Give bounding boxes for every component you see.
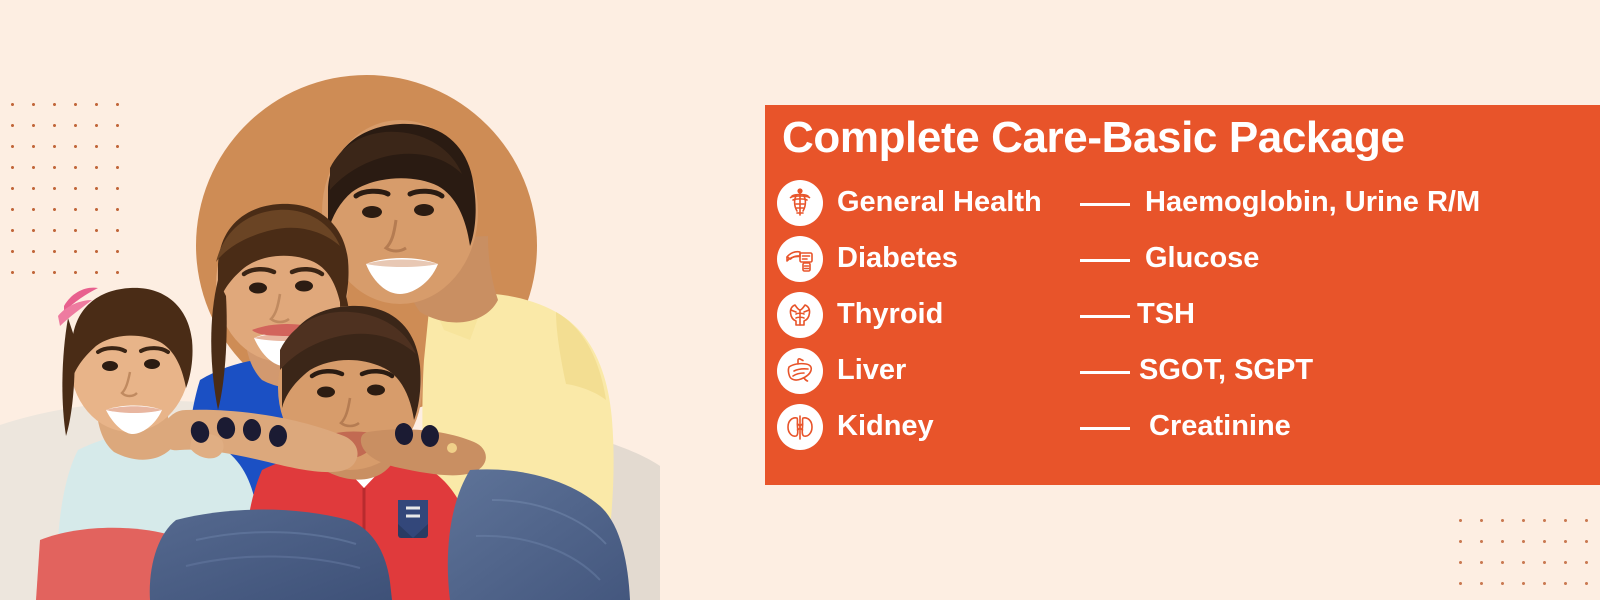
family-photo [0,0,660,600]
list-item[interactable]: Diabetes Glucose [777,233,1597,289]
package-title: Complete Care-Basic Package [782,113,1405,163]
family-photo-illustration [0,0,660,600]
list-item[interactable]: Thyroid TSH [777,289,1597,345]
row-separator [1080,259,1130,262]
list-item[interactable]: Liver SGOT, SGPT [777,345,1597,401]
decorative-dot-grid-right [1448,508,1600,600]
glucose-meter-hand-icon [777,236,823,282]
row-separator [1080,315,1130,318]
category-label: Diabetes [837,242,958,275]
test-name: Haemoglobin, Urine R/M [1145,186,1480,219]
category-label: Kidney [837,410,934,443]
list-item[interactable]: General Health Haemoglobin, Urine R/M [777,177,1597,233]
test-name: Glucose [1145,242,1259,275]
test-name: SGOT, SGPT [1139,354,1313,387]
test-list: General Health Haemoglobin, Urine R/M [777,177,1597,457]
thyroid-gland-icon [777,292,823,338]
test-name: TSH [1137,298,1195,331]
category-label: Liver [837,354,906,387]
category-label: General Health [837,186,1042,219]
list-item[interactable]: Kidney Creatinine [777,401,1597,457]
row-separator [1080,203,1130,206]
caduceus-icon [777,180,823,226]
health-package-banner: Complete Care-Basic Package [0,0,1600,600]
category-label: Thyroid [837,298,943,331]
kidneys-icon [777,404,823,450]
row-separator [1080,427,1130,430]
liver-icon [777,348,823,394]
row-separator [1080,371,1130,374]
test-name: Creatinine [1149,410,1291,443]
package-panel: Complete Care-Basic Package [765,105,1600,485]
